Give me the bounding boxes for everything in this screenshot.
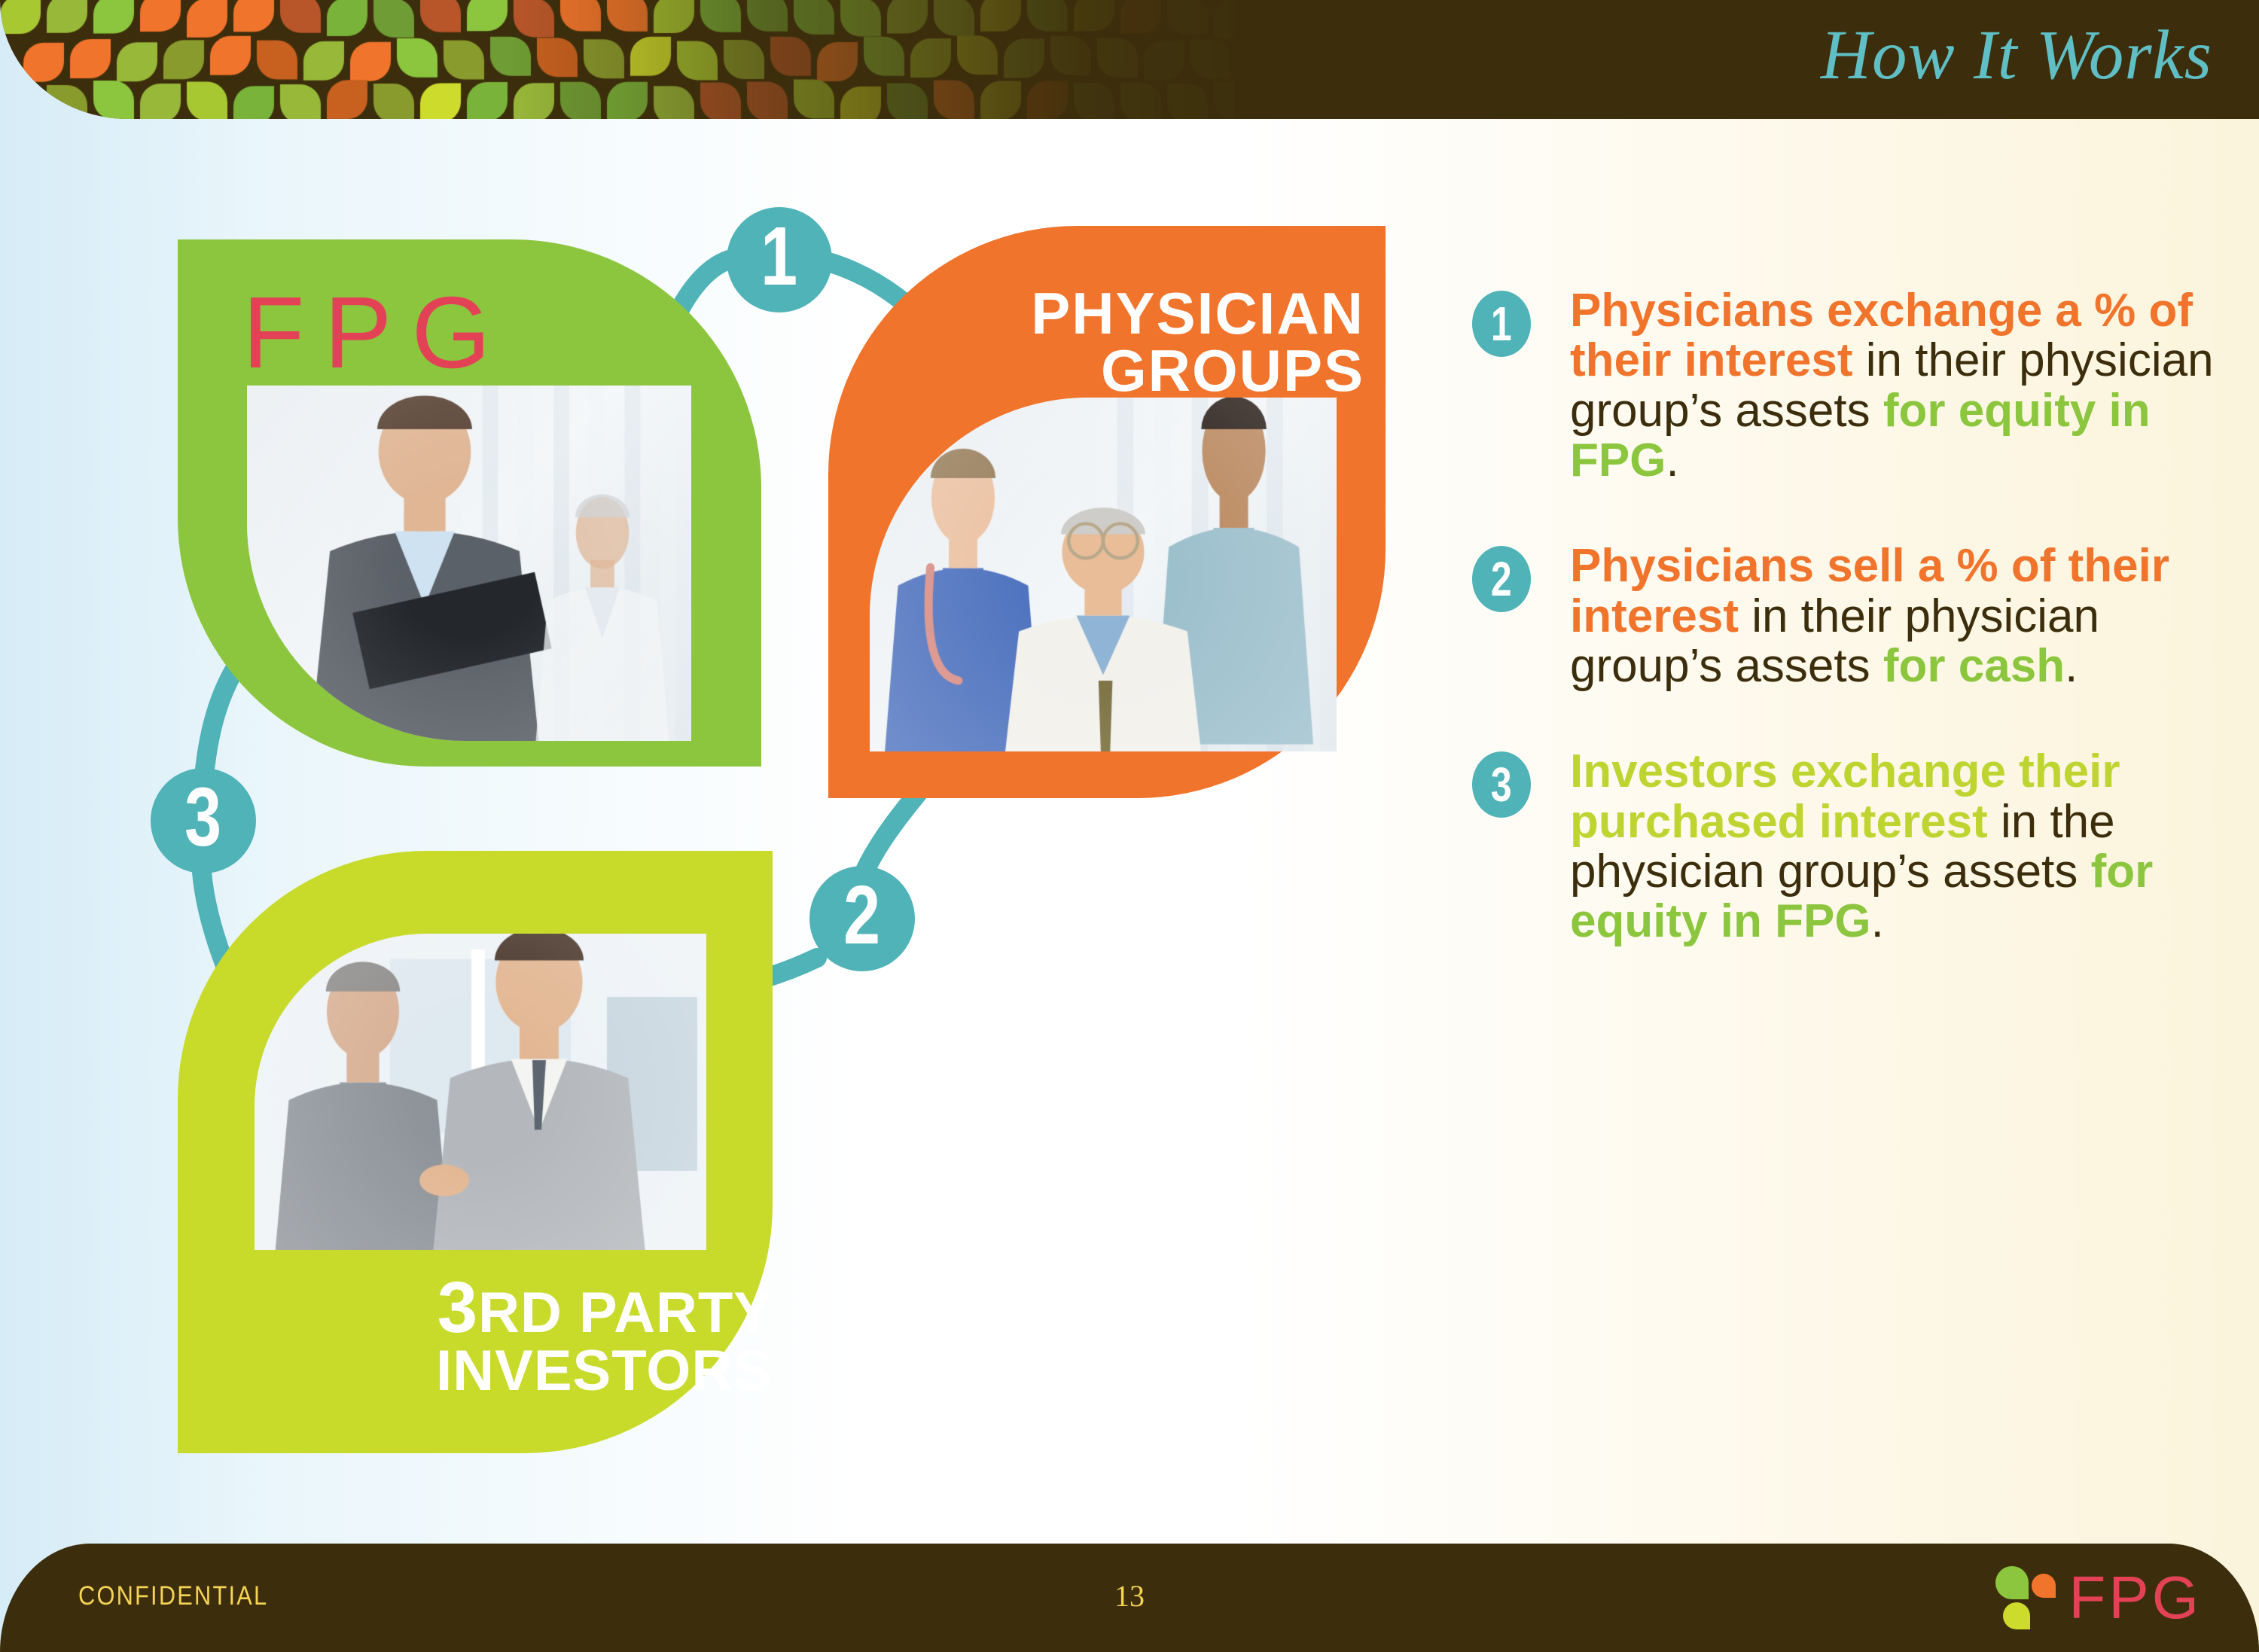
fpg-logo-leaf-icon: [1995, 1566, 2057, 1629]
marker-2-label: 2: [844, 874, 881, 957]
fpg-logo-wordmark: FPG: [2069, 1572, 2202, 1624]
step-1-bullet: 1: [1472, 291, 1531, 357]
diagram-marker-2[interactable]: 2: [809, 866, 915, 971]
marker-3-label: 3: [185, 776, 222, 859]
slide-header: How It Works: [0, 0, 2259, 119]
step-1-text: Physicians exchange a % of their interes…: [1570, 286, 2225, 486]
header-leaf-pattern: [0, 0, 1235, 119]
step-text-segment: .: [1871, 895, 1884, 947]
logo-leaf-green-icon: [1995, 1566, 2029, 1599]
slide-footer: CONFIDENTIAL 13 FPG: [0, 1544, 2259, 1652]
step-item: 2Physicians sell a % of their interest i…: [1472, 541, 2225, 691]
step-3-bullet: 3: [1472, 751, 1531, 818]
step-item: 1Physicians exchange a % of their intere…: [1472, 286, 2225, 486]
investors-label-numeral: 3: [437, 1267, 478, 1348]
logo-leaf-orange-icon: [2032, 1574, 2056, 1598]
step-text-segment: .: [1666, 434, 1678, 486]
page-number: 13: [0, 1578, 2259, 1614]
third-party-investors-photo: [255, 934, 706, 1250]
step-item: 3Investors exchange their purchased inte…: [1472, 747, 2225, 946]
step-text-segment: for cash: [1883, 640, 2065, 692]
steps-list: 1Physicians exchange a % of their intere…: [1472, 286, 2225, 1003]
marker-1-label: 1: [761, 215, 798, 298]
investors-label-line2: INVESTORS: [436, 1339, 773, 1403]
step-bullet-label: 1: [1491, 300, 1512, 348]
step-3-text: Investors exchange their purchased inter…: [1570, 747, 2225, 946]
fpg-logo[interactable]: FPG: [1995, 1566, 2202, 1629]
diagram-marker-3[interactable]: 3: [151, 768, 256, 873]
diagram-marker-1[interactable]: 1: [727, 207, 832, 312]
logo-leaf-lime-icon: [2003, 1602, 2030, 1629]
page-title: How It Works: [1821, 15, 2212, 96]
investors-label-rest: RD PARTY: [478, 1281, 773, 1345]
step-text-segment: .: [2065, 640, 2078, 692]
step-2-bullet: 2: [1472, 546, 1531, 612]
step-2-text: Physicians sell a % of their interest in…: [1570, 541, 2225, 691]
physician-groups-leaf-label: PHYSICIAN GROUPS: [828, 285, 1364, 400]
step-bullet-label: 3: [1491, 760, 1512, 809]
step-bullet-label: 2: [1491, 555, 1512, 603]
fpg-leaf-label: FPG: [242, 282, 511, 383]
third-party-investors-leaf-label: 3RD PARTY INVESTORS: [0, 1273, 773, 1400]
slide: How It Works FPG PHYSICIAN GROUPS 3RD PA…: [0, 0, 2259, 1652]
